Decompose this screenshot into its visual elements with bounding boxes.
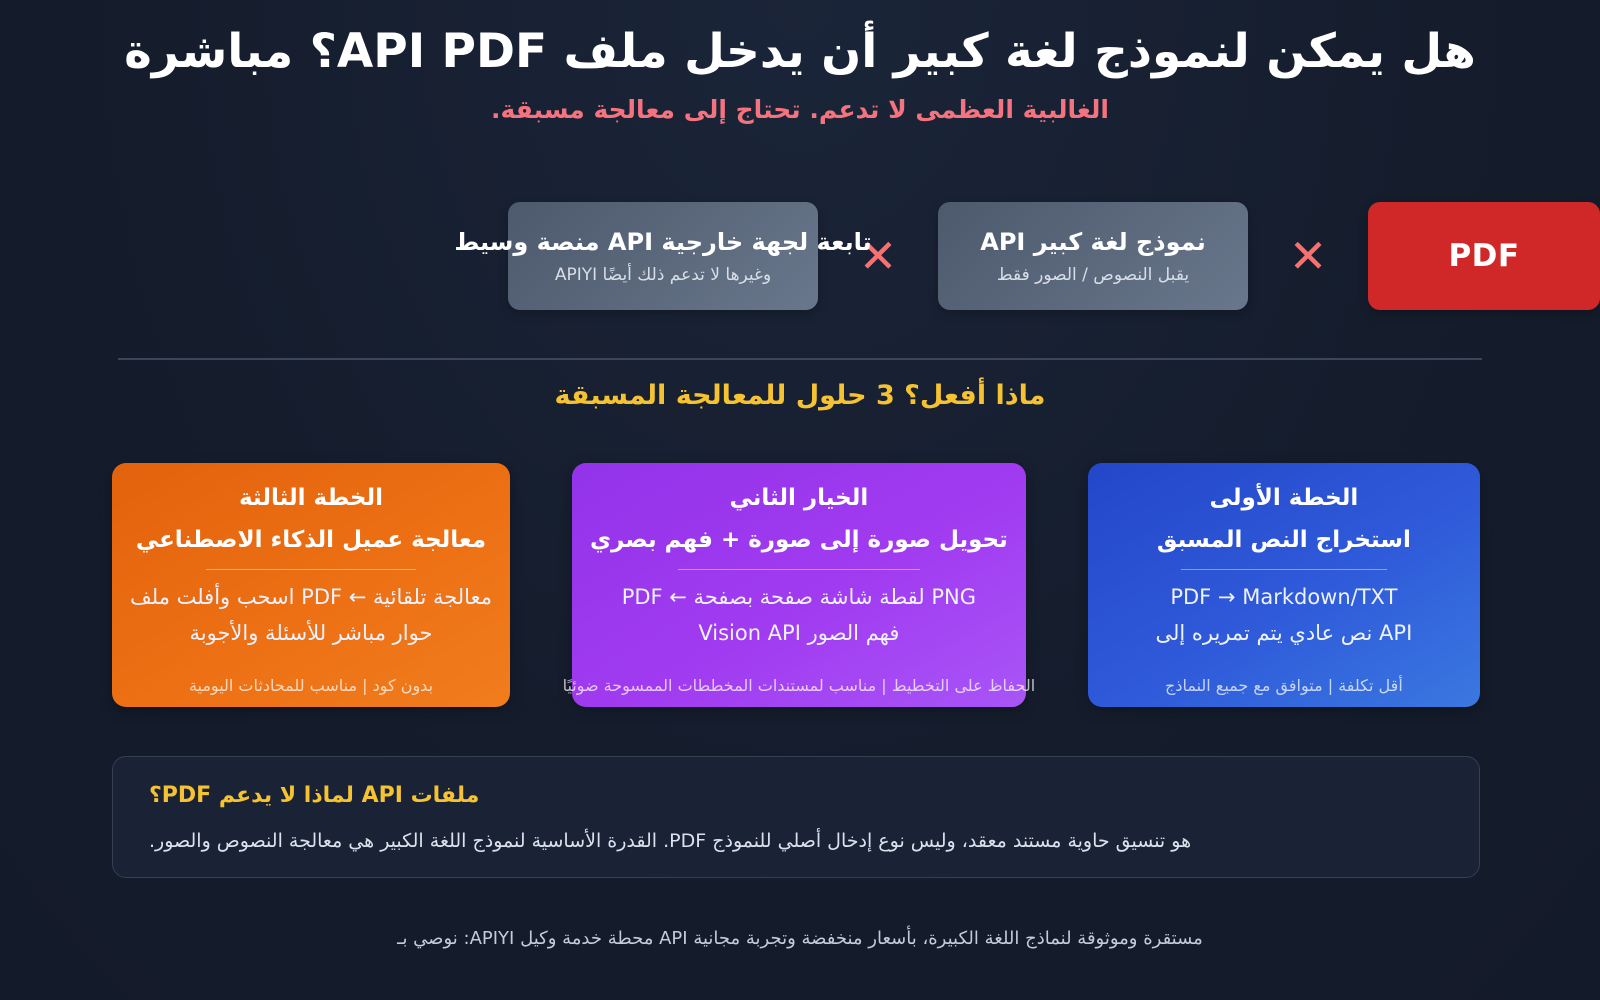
solution-name: معالجة عميل الذكاء الاصطناعي: [130, 527, 492, 553]
section-divider: [118, 358, 1482, 360]
solution-rule: [1181, 569, 1388, 570]
pdf-source-label: PDF: [1448, 238, 1519, 274]
header: هل يمكن لنموذج لغة كبير أن يدخل ملف API …: [0, 24, 1600, 124]
note-body: هو تنسيق حاوية مستند معقد، وليس نوع إدخا…: [149, 830, 1443, 852]
flow-node-llm-api: نموذج لغة كبير API يقبل النصوص / الصور ف…: [938, 202, 1248, 310]
flow-node-subtitle: وغيرها لا تدعم ذلك أيضًا APIYI: [555, 265, 771, 285]
solution-cards: الخطة الأولى استخراج النص المسبق PDF → M…: [112, 463, 1480, 707]
solution-line-2: حوار مباشر للأسئلة والأجوبة: [130, 621, 492, 645]
page-subtitle: الغالبية العظمى لا تدعم. تحتاج إلى معالج…: [0, 95, 1600, 124]
solution-card-3[interactable]: الخطة الثالثة معالجة عميل الذكاء الاصطنا…: [112, 463, 510, 707]
flow-node-title: تابعة لجهة خارجية API منصة وسيط: [454, 228, 871, 256]
page-title: هل يمكن لنموذج لغة كبير أن يدخل ملف API …: [100, 24, 1500, 79]
explanation-note: ملفات API لماذا لا يدعم PDF؟ هو تنسيق حا…: [112, 756, 1480, 878]
solution-card-1[interactable]: الخطة الأولى استخراج النص المسبق PDF → M…: [1088, 463, 1480, 707]
solution-line-1: PDF → Markdown/TXT: [1106, 585, 1462, 609]
solution-line-2: فهم الصور Vision API: [590, 621, 1008, 645]
flow-node-title: نموذج لغة كبير API: [980, 228, 1206, 256]
footer-recommendation: مستقرة وموثوقة لنماذج اللغة الكبيرة، بأس…: [0, 928, 1600, 949]
solution-line-1: PNG لقطة شاشة صفحة بصفحة ← PDF: [590, 585, 1008, 609]
solution-line-2: API نص عادي يتم تمريره إلى: [1106, 621, 1462, 645]
solution-badge: الخطة الثالثة: [130, 485, 492, 511]
solution-badge: الخيار الثاني: [590, 485, 1008, 511]
cross-icon-1: ✕: [1248, 233, 1368, 279]
solution-card-2[interactable]: الخيار الثاني تحويل صورة إلى صورة + فهم …: [572, 463, 1026, 707]
section-heading: ماذا أفعل؟ 3 حلول للمعالجة المسبقة: [0, 380, 1600, 411]
solution-line-1: معالجة تلقائية ← PDF اسحب وأفلت ملف: [130, 585, 492, 609]
solution-footnote: أقل تكلفة | متوافق مع جميع النماذج: [1165, 676, 1403, 695]
flow-node-proxy-platform: تابعة لجهة خارجية API منصة وسيط وغيرها ل…: [508, 202, 818, 310]
pdf-source-chip: PDF: [1368, 202, 1600, 310]
infographic-page: هل يمكن لنموذج لغة كبير أن يدخل ملف API …: [0, 0, 1600, 1000]
solution-footnote: بدون كود | مناسب للمحادثات اليومية: [189, 676, 433, 695]
solution-name: استخراج النص المسبق: [1106, 527, 1462, 553]
flow-row: PDF ✕ نموذج لغة كبير API يقبل النصوص / ا…: [0, 200, 1600, 312]
solution-name: تحويل صورة إلى صورة + فهم بصري: [590, 527, 1008, 553]
solution-badge: الخطة الأولى: [1106, 485, 1462, 511]
note-title: ملفات API لماذا لا يدعم PDF؟: [149, 783, 1443, 808]
flow-node-subtitle: يقبل النصوص / الصور فقط: [997, 265, 1189, 285]
solution-rule: [206, 569, 416, 570]
solution-rule: [678, 569, 920, 570]
solution-footnote: الحفاظ على التخطيط | مناسب لمستندات المخ…: [563, 676, 1036, 695]
